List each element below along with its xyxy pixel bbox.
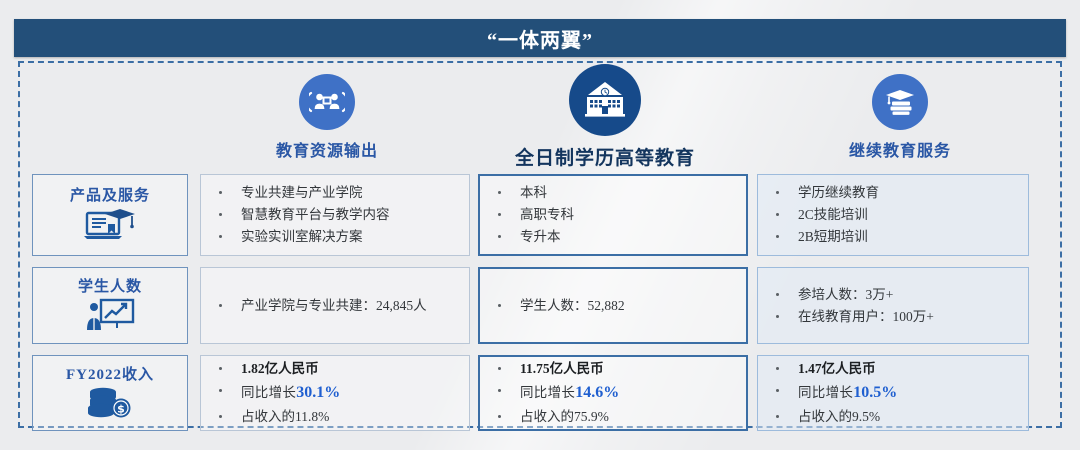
bullet-list: 1.82亿人民币 同比增长30.1% 占收入的11.8% [213, 358, 459, 428]
growth-prefix: 同比增长 [241, 385, 296, 400]
bullet-list: 11.75亿人民币 同比增长14.6% 占收入的75.9% [492, 358, 736, 428]
slide-canvas: “一体两翼” 教育资源输出 [0, 0, 1080, 450]
cell-full-time-degree-products: 本科 高职专科 专升本 [478, 174, 748, 256]
list-item: 同比增长10.5% [770, 380, 1018, 406]
list-item: 2B短期培训 [770, 226, 1018, 248]
list-item: 高职专科 [492, 204, 736, 226]
bullet-list: 学生人数：52,882 [492, 295, 736, 317]
column-header-continuing-education-services: 继续教育服务 [820, 74, 980, 161]
cell-continuing-education-revenue: 1.47亿人民币 同比增长10.5% 占收入的9.5% [757, 355, 1029, 431]
row-label-text: 产品及服务 [70, 184, 150, 205]
growth-value: 10.5% [853, 384, 897, 401]
cell-education-resource-output-students: 产业学院与专业共建：24,845人 [200, 267, 470, 344]
growth-prefix: 同比增长 [520, 385, 575, 400]
list-item: 智慧教育平台与教学内容 [213, 204, 459, 226]
list-item: 专业共建与产业学院 [213, 182, 459, 204]
bullet-list: 专业共建与产业学院 智慧教育平台与教学内容 实验实训室解决方案 [213, 182, 459, 248]
list-item: 产业学院与专业共建：24,845人 [213, 295, 459, 317]
list-item: 学历继续教育 [770, 182, 1018, 204]
cell-continuing-education-students: 参培人数：3万+ 在线教育用户：100万+ [757, 267, 1029, 344]
list-item: 占收入的11.8% [213, 406, 459, 428]
list-item: 同比增长30.1% [213, 380, 459, 406]
cell-continuing-education-products: 学历继续教育 2C技能培训 2B短期培训 [757, 174, 1029, 256]
list-item: 2C技能培训 [770, 204, 1018, 226]
bullet-list: 参培人数：3万+ 在线教育用户：100万+ [770, 284, 1018, 328]
list-item: 在线教育用户：100万+ [770, 306, 1018, 328]
column-heading-label: 全日制学历高等教育 [505, 143, 705, 170]
svg-text:$: $ [117, 403, 125, 416]
bullet-list: 产业学院与专业共建：24,845人 [213, 295, 459, 317]
column-header-full-time-degree-higher-education: 全日制学历高等教育 [505, 64, 705, 170]
column-heading-label: 继续教育服务 [820, 137, 980, 161]
growth-value: 14.6% [575, 384, 619, 401]
list-item: 本科 [492, 182, 736, 204]
presenter-chart-icon [85, 298, 135, 337]
list-item: 同比增长14.6% [492, 380, 736, 406]
growth-prefix: 同比增长 [798, 385, 853, 400]
row-label-student-count: 学生人数 [32, 267, 188, 344]
books-graduation-cap-icon [872, 74, 928, 130]
row-label-fy2022-revenue: FY2022收入 $ [32, 355, 188, 431]
list-item: 11.75亿人民币 [492, 358, 736, 380]
list-item: 学生人数：52,882 [492, 295, 736, 317]
page-title: “一体两翼” [487, 24, 593, 53]
cell-education-resource-output-products: 专业共建与产业学院 智慧教育平台与教学内容 实验实训室解决方案 [200, 174, 470, 256]
bullet-list: 1.47亿人民币 同比增长10.5% 占收入的9.5% [770, 358, 1018, 428]
list-item: 专升本 [492, 226, 736, 248]
list-item: 占收入的9.5% [770, 406, 1018, 428]
bullet-list: 本科 高职专科 专升本 [492, 182, 736, 248]
column-heading-label: 教育资源输出 [247, 137, 407, 161]
laptop-graduation-cap-icon [82, 207, 138, 246]
slide-title-bar: “一体两翼” [14, 19, 1066, 57]
school-building-icon [569, 64, 641, 136]
cell-education-resource-output-revenue: 1.82亿人民币 同比增长30.1% 占收入的11.8% [200, 355, 470, 431]
list-item: 1.47亿人民币 [770, 358, 1018, 380]
bullet-list: 学历继续教育 2C技能培训 2B短期培训 [770, 182, 1018, 248]
row-label-products-and-services: 产品及服务 [32, 174, 188, 256]
column-header-education-resource-output: 教育资源输出 [247, 74, 407, 161]
list-item: 实验实训室解决方案 [213, 226, 459, 248]
coins-dollar-icon: $ [86, 386, 134, 423]
cell-full-time-degree-students: 学生人数：52,882 [478, 267, 748, 344]
list-item: 参培人数：3万+ [770, 284, 1018, 306]
two-people-connection-icon [299, 74, 355, 130]
cell-full-time-degree-revenue: 11.75亿人民币 同比增长14.6% 占收入的75.9% [478, 355, 748, 431]
row-label-text: FY2022收入 [66, 363, 154, 384]
list-item: 1.82亿人民币 [213, 358, 459, 380]
list-item: 占收入的75.9% [492, 406, 736, 428]
row-label-text: 学生人数 [78, 275, 142, 296]
growth-value: 30.1% [296, 384, 340, 401]
